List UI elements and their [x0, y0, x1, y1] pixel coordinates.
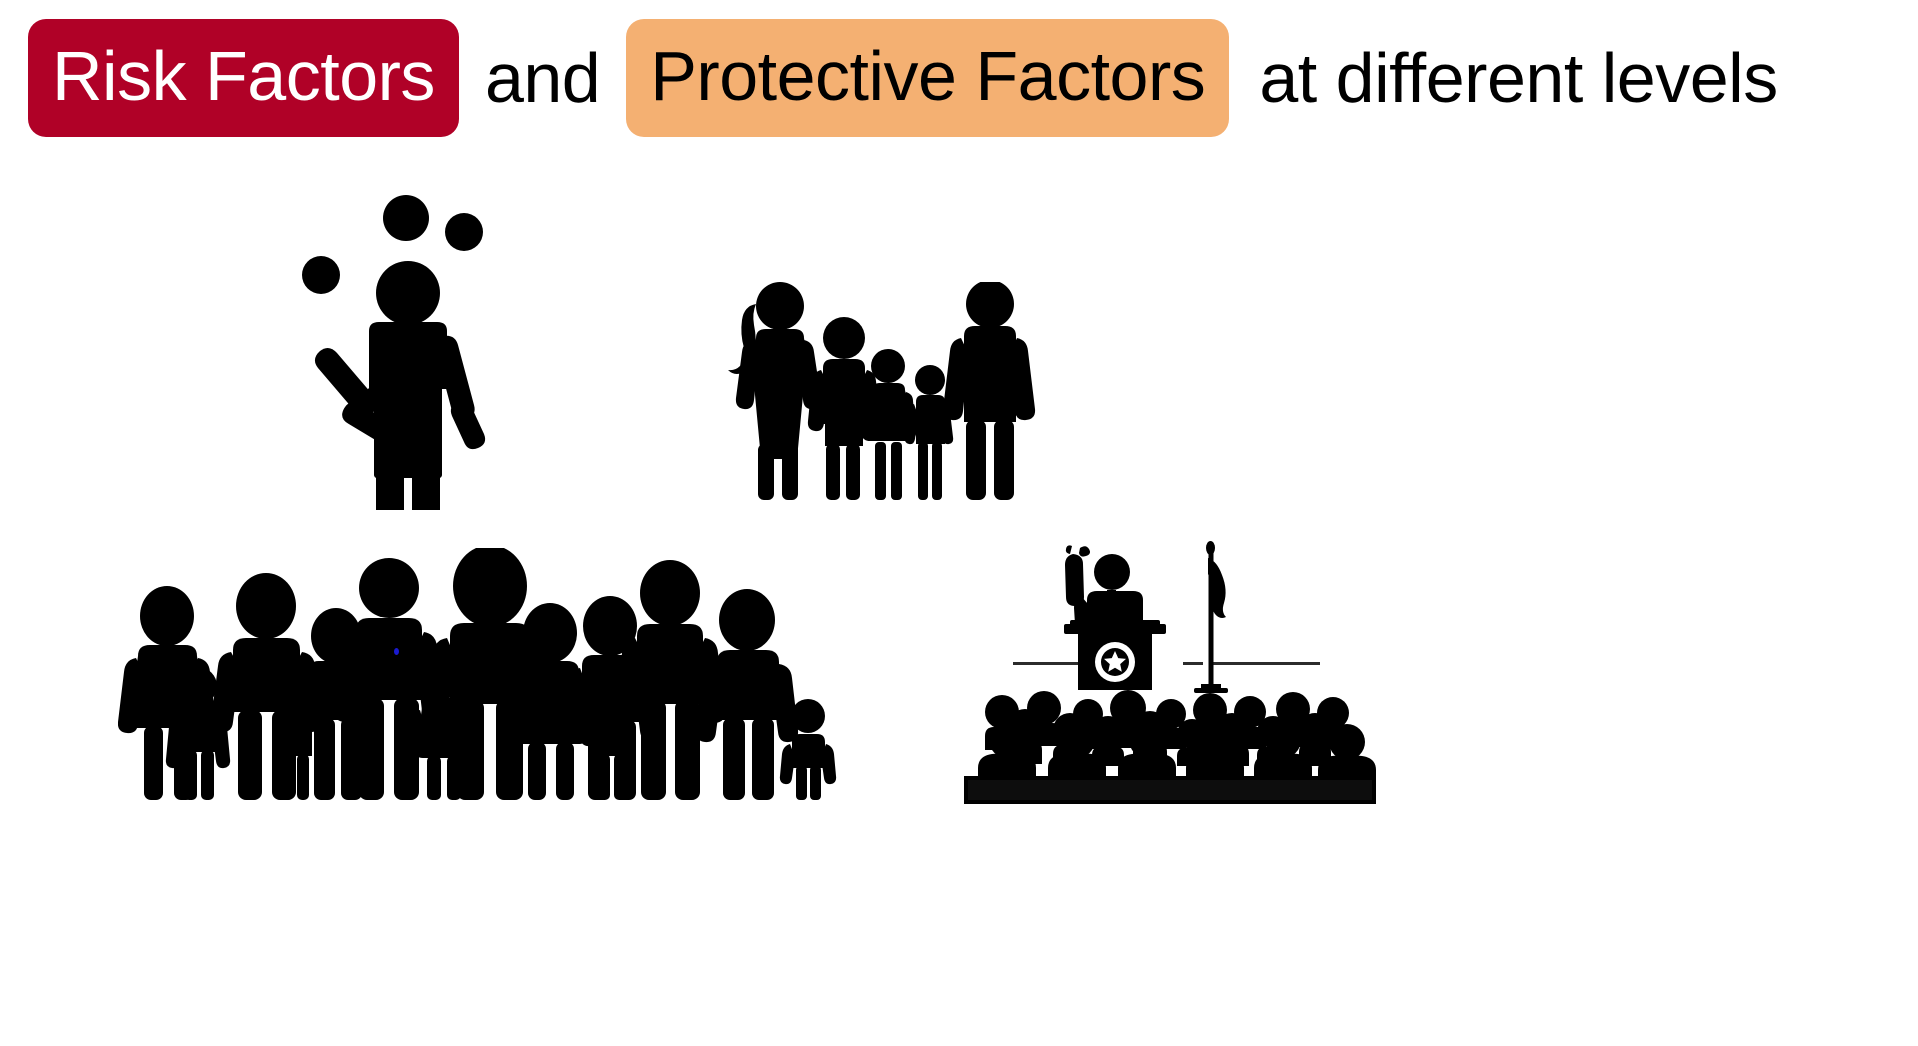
title-suffix: at different levels: [1259, 43, 1777, 113]
juggler-right-forearm: [451, 401, 485, 449]
blue-dot-artifact: [394, 648, 399, 655]
family-of-five-icon: [712, 282, 1042, 510]
juggler-right-leg: [412, 470, 440, 510]
juggling-ball-right: [445, 213, 483, 251]
juggling-ball-left: [302, 256, 340, 294]
flag-icon: [1194, 541, 1228, 693]
speaker-at-podium-with-audience-icon: [960, 528, 1380, 808]
crowd-figure: [118, 548, 848, 808]
podium: [1064, 620, 1166, 690]
stage-backdrop-line: [1013, 662, 1320, 665]
juggler-figure: [286, 180, 526, 510]
crowd-of-people-icon: [118, 548, 848, 808]
juggler-left-leg: [376, 470, 404, 510]
family-figure: [712, 282, 1042, 510]
person-juggling-balls-icon: [286, 180, 526, 510]
slide-title: Risk Factors and Protective Factors at d…: [28, 18, 1778, 138]
title-conjunction: and: [485, 43, 600, 113]
speaker-person: [1065, 545, 1143, 624]
stage-platform: [964, 776, 1376, 804]
juggler-head: [376, 261, 440, 325]
protective-factors-badge: Protective Factors: [626, 19, 1229, 137]
risk-factors-badge: Risk Factors: [28, 19, 459, 137]
slide-canvas: Risk Factors and Protective Factors at d…: [0, 0, 1918, 1046]
family-member-father: [943, 282, 1035, 500]
juggling-ball-top: [383, 195, 429, 241]
assembly-figure: [960, 528, 1380, 808]
family-member-mother: [728, 282, 821, 500]
